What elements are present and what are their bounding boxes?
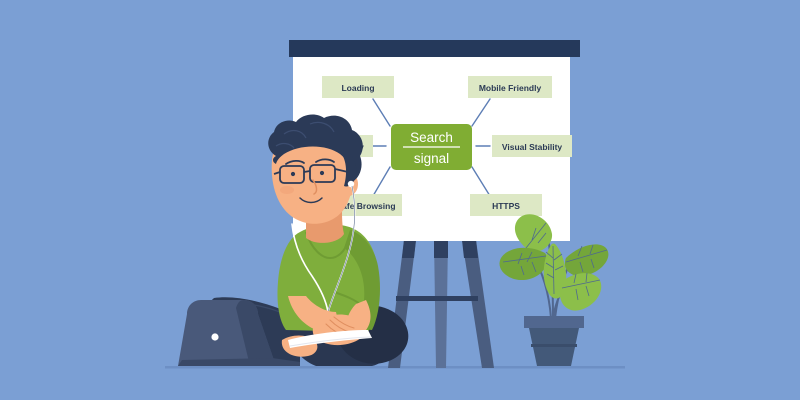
easel-leg-middle-cap	[434, 240, 448, 258]
node-search-signal[interactable]: Search signal	[391, 124, 472, 170]
node-mobile-friendly[interactable]: Mobile Friendly	[468, 76, 552, 98]
node-visual-stability[interactable]: Visual Stability	[492, 135, 572, 157]
easel-leg-right-cap	[462, 240, 478, 258]
person-eye-right	[320, 171, 324, 175]
node-visual-stability-label: Visual Stability	[502, 142, 563, 152]
plant-pot-rim	[524, 316, 584, 328]
earbud-icon	[348, 181, 354, 187]
plant-pot-band	[531, 344, 577, 347]
person-cheek	[280, 186, 294, 194]
laptop-logo-icon	[211, 333, 218, 340]
node-search-signal-line2: signal	[414, 151, 449, 166]
illustration-canvas: Loading Mobile Friendly Interactivity Vi…	[0, 0, 800, 400]
easel-leg-left-cap	[402, 240, 416, 258]
node-loading-label: Loading	[341, 83, 374, 93]
scene-svg: Loading Mobile Friendly Interactivity Vi…	[0, 0, 800, 400]
glasses-bridge	[304, 171, 310, 172]
node-https[interactable]: HTTPS	[470, 194, 542, 216]
node-https-label: HTTPS	[492, 201, 520, 211]
easel-crossbar	[396, 296, 478, 301]
board-header-bar	[289, 40, 580, 57]
node-mobile-friendly-label: Mobile Friendly	[479, 83, 542, 93]
node-search-signal-line1: Search	[410, 130, 453, 145]
person-eye-left	[291, 172, 295, 176]
easel-leg-middle	[434, 240, 448, 368]
node-loading[interactable]: Loading	[322, 76, 394, 98]
